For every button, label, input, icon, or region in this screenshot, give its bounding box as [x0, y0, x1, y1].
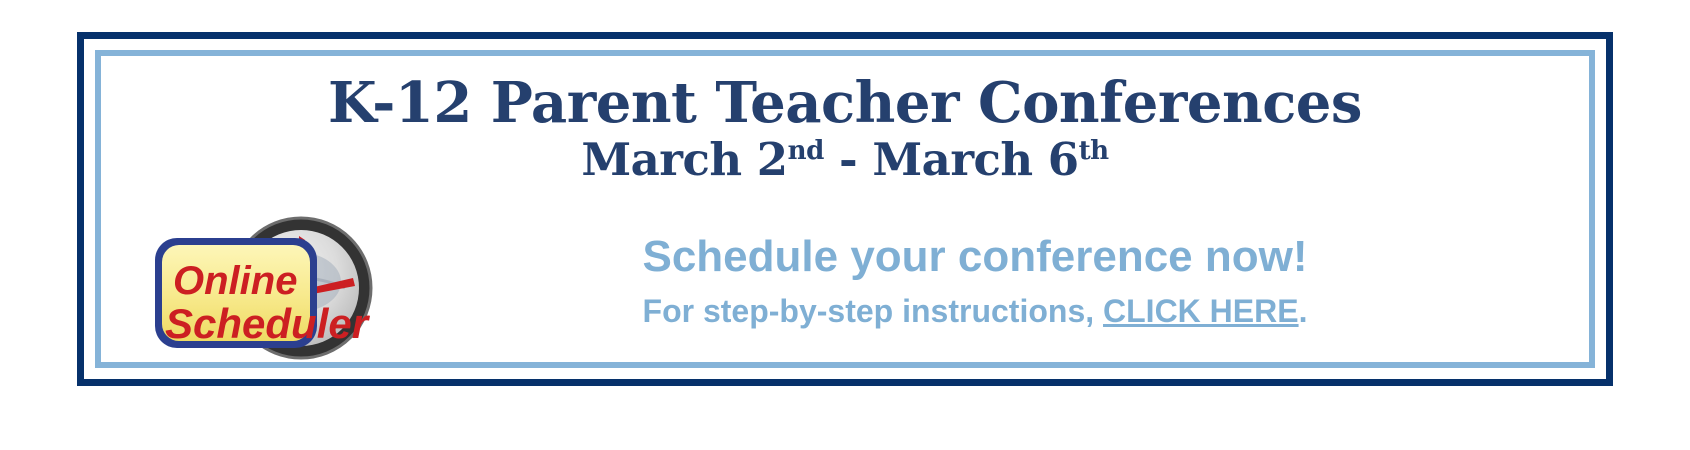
cta-headline: Schedule your conference now! [401, 234, 1549, 280]
conference-banner: K-12 Parent Teacher Conferences March 2n… [0, 0, 1690, 450]
date-separator: - [824, 133, 873, 186]
date-end: March 6 [872, 133, 1078, 186]
date-end-ordinal: th [1079, 135, 1109, 166]
instructions-prefix: For step-by-step instructions, [643, 293, 1103, 329]
date-start: March 2 [581, 133, 787, 186]
page-title: K-12 Parent Teacher Conferences March 2n… [101, 74, 1589, 184]
click-here-link[interactable]: CLICK HERE [1103, 293, 1299, 329]
banner-outer-frame: K-12 Parent Teacher Conferences March 2n… [77, 32, 1613, 386]
instructions-line: For step-by-step instructions, CLICK HER… [401, 294, 1549, 329]
headline-primary: K-12 Parent Teacher Conferences [101, 74, 1589, 132]
banner-inner-frame: K-12 Parent Teacher Conferences March 2n… [95, 50, 1595, 368]
date-start-ordinal: nd [788, 135, 824, 166]
online-scheduler-logo-icon: Online Scheduler [149, 216, 387, 364]
online-scheduler-logo[interactable]: Online Scheduler [149, 216, 387, 364]
logo-word-online: Online [173, 259, 297, 303]
headline-dates: March 2nd - March 6th [101, 137, 1589, 184]
instructions-suffix: . [1299, 293, 1308, 329]
logo-word-scheduler: Scheduler [165, 300, 371, 347]
banner-content: K-12 Parent Teacher Conferences March 2n… [101, 56, 1589, 362]
banner-message-block: Schedule your conference now! For step-b… [401, 234, 1549, 329]
